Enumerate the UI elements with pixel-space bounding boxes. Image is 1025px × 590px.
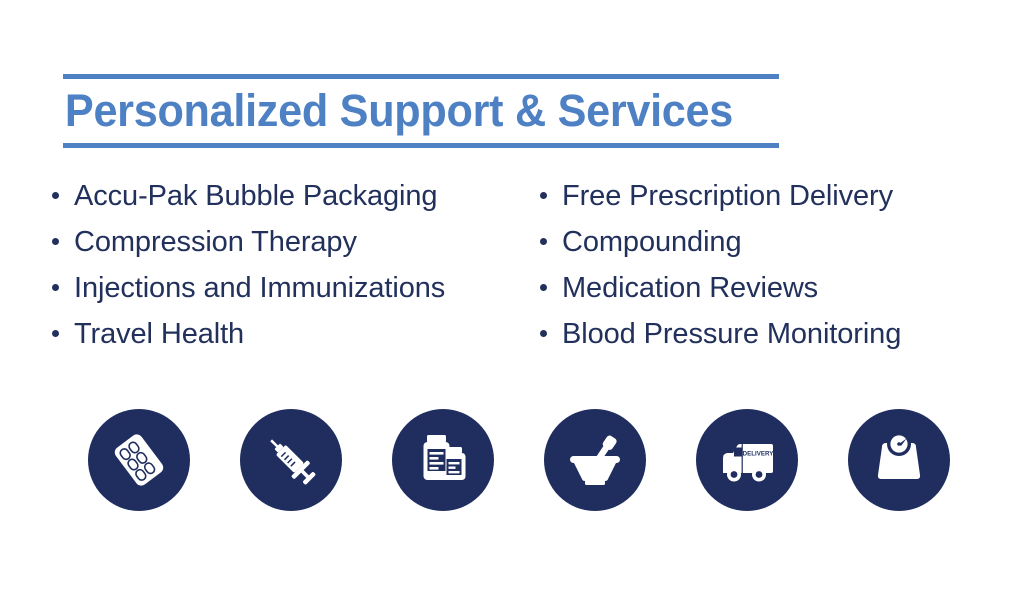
- title-rule-bottom: [63, 143, 779, 148]
- weight-scale-icon: [868, 429, 930, 491]
- truck-delivery-text: DELIVERY: [743, 451, 775, 458]
- services-slide: Personalized Support & Services Accu-Pak…: [0, 0, 1025, 590]
- service-label: Injections and Immunizations: [74, 270, 445, 306]
- list-item: Travel Health: [52, 316, 532, 362]
- pill-bottles-icon: [412, 429, 474, 491]
- services-left-column: Accu-Pak Bubble Packaging Compression Th…: [52, 178, 532, 362]
- list-item: Compression Therapy: [52, 224, 532, 270]
- blister-pack-icon: [109, 430, 169, 490]
- bullet-icon: [540, 238, 547, 245]
- bullet-icon: [52, 284, 59, 291]
- mortar-pestle-icon: [564, 429, 626, 491]
- list-item: Medication Reviews: [540, 270, 1010, 316]
- icon-badge-mortar-pestle: [544, 409, 646, 511]
- service-label: Blood Pressure Monitoring: [562, 316, 901, 352]
- syringe-icon: [260, 429, 322, 491]
- icon-badge-weight-scale: [848, 409, 950, 511]
- list-item: Blood Pressure Monitoring: [540, 316, 1010, 362]
- icon-badge-delivery-truck: DELIVERY: [696, 409, 798, 511]
- service-label: Medication Reviews: [562, 270, 818, 306]
- bullet-icon: [52, 192, 59, 199]
- bullet-icon: [540, 192, 547, 199]
- bullet-icon: [540, 330, 547, 337]
- list-item: Compounding: [540, 224, 1010, 270]
- icon-badge-blister-pack: [88, 409, 190, 511]
- title-block: Personalized Support & Services: [63, 74, 779, 148]
- page-title: Personalized Support & Services: [63, 79, 750, 143]
- service-label: Compression Therapy: [74, 224, 357, 260]
- service-label: Free Prescription Delivery: [562, 178, 893, 214]
- service-label: Compounding: [562, 224, 741, 260]
- services-right-column: Free Prescription Delivery Compounding M…: [540, 178, 1010, 362]
- icon-badge-syringe: [240, 409, 342, 511]
- services-columns: Accu-Pak Bubble Packaging Compression Th…: [0, 178, 1025, 362]
- bullet-icon: [52, 238, 59, 245]
- bullet-icon: [52, 330, 59, 337]
- bullet-icon: [540, 284, 547, 291]
- list-item: Injections and Immunizations: [52, 270, 532, 316]
- service-label: Travel Health: [74, 316, 244, 352]
- service-icon-row: DELIVERY: [88, 409, 950, 511]
- list-item: Free Prescription Delivery: [540, 178, 1010, 224]
- icon-badge-pill-bottles: [392, 409, 494, 511]
- delivery-truck-icon: DELIVERY: [715, 428, 779, 492]
- list-item: Accu-Pak Bubble Packaging: [52, 178, 532, 224]
- service-label: Accu-Pak Bubble Packaging: [74, 178, 437, 214]
